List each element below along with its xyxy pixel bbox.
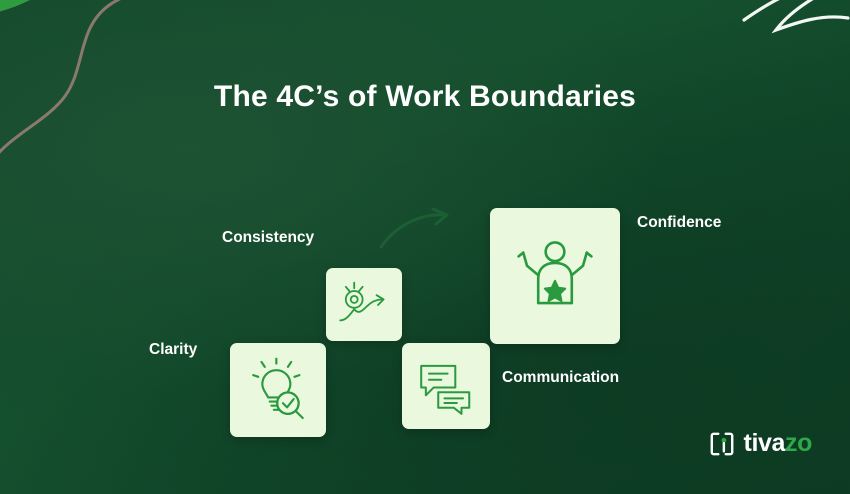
person-arms-raised-star-icon bbox=[513, 234, 597, 318]
label-communication: Communication bbox=[502, 369, 619, 387]
card-clarity[interactable] bbox=[230, 343, 326, 437]
card-communication[interactable] bbox=[402, 343, 490, 429]
page-title: The 4C’s of Work Boundaries bbox=[0, 80, 850, 114]
lightbulb-magnifier-icon bbox=[245, 357, 311, 423]
target-growth-arrow-icon bbox=[336, 277, 392, 333]
chat-bubbles-icon bbox=[415, 355, 477, 417]
card-consistency[interactable] bbox=[326, 268, 402, 341]
card-confidence[interactable] bbox=[490, 208, 620, 344]
curved-arrow-icon bbox=[378, 205, 456, 255]
slide-canvas: The 4C’s of Work Boundaries bbox=[0, 0, 850, 494]
logo-text-primary: tiva bbox=[744, 429, 785, 457]
logo-wordmark: tivazo bbox=[744, 429, 812, 458]
label-clarity: Clarity bbox=[149, 341, 197, 359]
label-consistency: Consistency bbox=[222, 229, 314, 247]
brand-logo[interactable]: tivazo bbox=[709, 429, 812, 458]
scribble-decoration bbox=[736, 0, 850, 54]
tivazo-bracket-icon bbox=[709, 431, 735, 457]
logo-text-accent: zo bbox=[785, 429, 812, 457]
label-confidence: Confidence bbox=[637, 214, 721, 232]
